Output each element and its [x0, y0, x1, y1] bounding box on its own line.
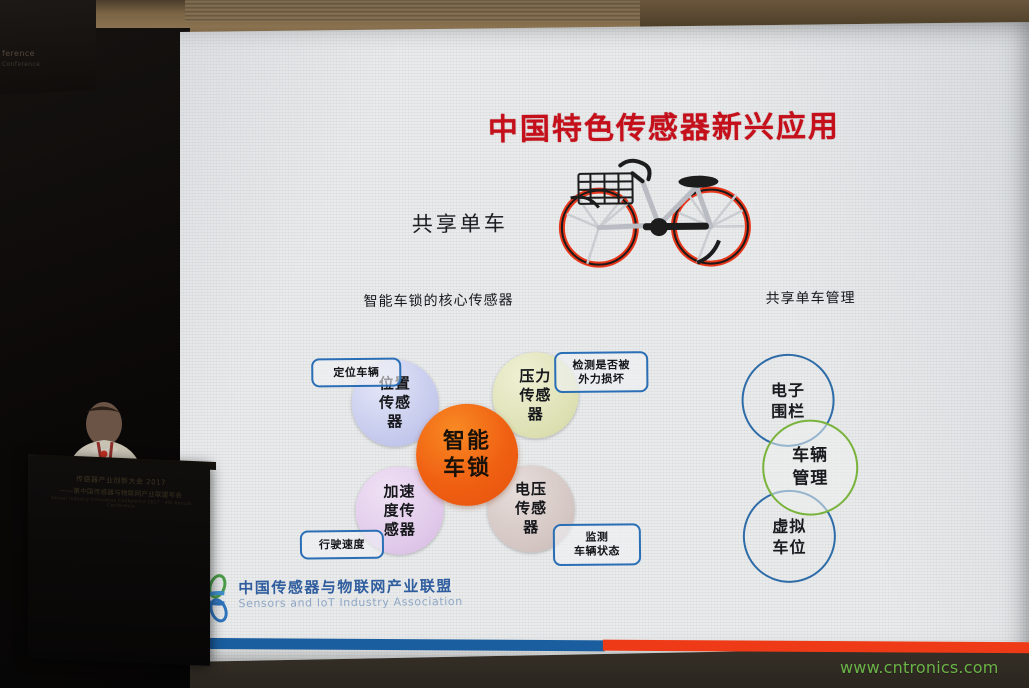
position-sensor-line2: 传感 — [379, 393, 411, 412]
slide-subtitle: 共享单车 — [365, 207, 555, 239]
pressure-sensor-line2: 传感 — [519, 386, 551, 405]
pressure-sensor-line1: 压力 — [519, 367, 551, 386]
footer-bar-blue — [173, 638, 605, 652]
shared-bicycle-image — [546, 150, 767, 272]
callout-locate-vehicle-line1: 定位车辆 — [333, 365, 379, 379]
callout-driving-speed[interactable]: 行驶速度 — [300, 530, 384, 560]
virtual-parking-line2: 车位 — [772, 536, 806, 557]
voltage-sensor-line1: 电压 — [515, 480, 547, 499]
circle-smart-lock-core[interactable]: 智能 车锁 — [416, 403, 519, 506]
callout-driving-speed-line1: 行驶速度 — [319, 537, 365, 551]
acceleration-sensor-line1: 加速 — [383, 482, 415, 501]
callout-detect-damage-line1: 检测是否被 — [572, 358, 630, 373]
ring-vehicle-management[interactable]: 车辆 管理 — [762, 419, 859, 516]
side-panel-text-line1: ference — [2, 48, 72, 59]
callout-locate-vehicle[interactable]: 定位车辆 — [311, 358, 401, 388]
callout-monitor-status-line2: 车辆状态 — [574, 544, 620, 558]
voltage-sensor-line3: 器 — [515, 518, 547, 537]
virtual-parking-line1: 虚拟 — [772, 515, 806, 536]
association-name-en: Sensors and IoT Industry Association — [238, 595, 462, 610]
voltage-sensor-line2: 传感 — [515, 499, 547, 518]
ceiling-vent — [185, 0, 645, 22]
photo-of-presentation-screen: ference Conference 中国特色传感器新兴应用 共享单车 — [0, 0, 1029, 688]
callout-monitor-status[interactable]: 监测 车辆状态 — [553, 523, 641, 566]
electronic-fence-line2: 围栏 — [771, 400, 805, 421]
acceleration-sensor-line3: 感器 — [384, 520, 416, 539]
vehicle-management-line1: 车辆 — [792, 444, 828, 467]
slide-content: 中国特色传感器新兴应用 共享单车 — [93, 18, 1029, 667]
left-section-heading: 智能车锁的核心传感器 — [364, 290, 554, 313]
footer-bar-red — [603, 640, 1029, 654]
electronic-fence-line1: 电子 — [771, 379, 805, 400]
right-section-heading: 共享单车管理 — [715, 287, 905, 309]
callout-detect-damage-line2: 外力损坏 — [573, 372, 631, 387]
callout-detect-damage[interactable]: 检测是否被 外力损坏 — [554, 351, 648, 393]
position-sensor-line3: 器 — [379, 412, 411, 431]
acceleration-sensor-line2: 度传 — [384, 501, 416, 520]
watermark: www.cntronics.com — [840, 658, 998, 677]
smart-lock-line1: 智能 — [443, 428, 491, 455]
podium-text: 传感器产业创新大会 2017 ——第中国传感器与物联网产业联盟年会 Sensor… — [46, 473, 196, 512]
slide-title: 中国特色传感器新兴应用 — [394, 100, 934, 149]
vehicle-management-line2: 管理 — [792, 467, 828, 490]
side-panel-text-line2: Conference — [2, 59, 72, 70]
callout-monitor-status-line1: 监测 — [574, 530, 620, 544]
pressure-sensor-line3: 器 — [520, 405, 552, 424]
side-panel-text: ference Conference — [2, 48, 72, 70]
smart-lock-line2: 车锁 — [443, 455, 491, 482]
